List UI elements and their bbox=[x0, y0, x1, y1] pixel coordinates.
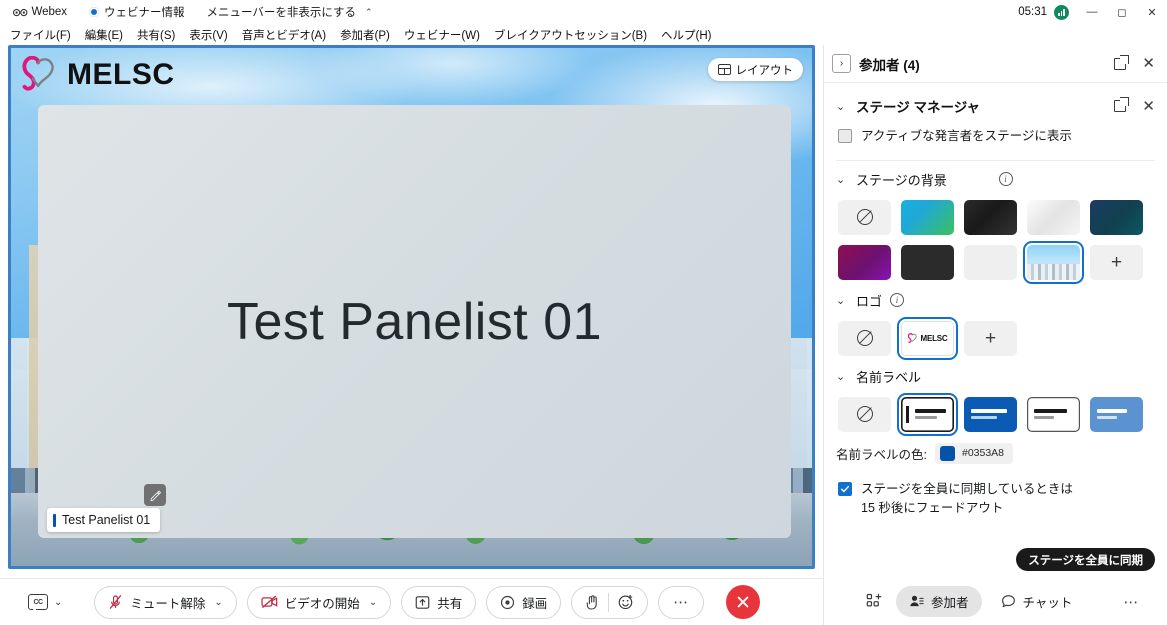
add-participants-icon bbox=[866, 593, 883, 610]
stage-background-options: + bbox=[824, 196, 1167, 282]
chat-tab-label: チャット bbox=[1023, 592, 1073, 611]
reactions-group[interactable] bbox=[571, 586, 648, 619]
logo-header[interactable]: ⌄ ロゴ i bbox=[824, 282, 1167, 317]
close-panel-icon[interactable]: ✕ bbox=[1142, 56, 1155, 71]
color-swatch bbox=[940, 446, 955, 461]
fadeout-checkbox[interactable] bbox=[838, 482, 852, 496]
active-speaker-label: アクティブな発言者をステージに表示 bbox=[861, 127, 1072, 146]
fadeout-line-2: 15 秒後にフェードアウト bbox=[861, 501, 1003, 515]
stage-background-header[interactable]: ⌄ ステージの背景 i bbox=[824, 161, 1167, 196]
popout-stage-manager-icon[interactable] bbox=[1114, 100, 1126, 112]
maximize-button[interactable]: ◻ bbox=[1107, 0, 1137, 24]
name-label-option-solid-blue[interactable] bbox=[964, 397, 1017, 432]
record-button[interactable]: 録画 bbox=[486, 586, 561, 619]
closed-caption-icon: CC bbox=[28, 594, 48, 610]
background-option-cityscape-photo[interactable] bbox=[1027, 245, 1080, 280]
no-name-label-icon bbox=[857, 406, 873, 422]
melsc-logo-icon bbox=[19, 56, 59, 94]
share-screen-icon bbox=[415, 595, 430, 610]
label-bar-secondary bbox=[915, 416, 937, 419]
minimize-button[interactable]: — bbox=[1077, 0, 1107, 24]
stage-background-title: ステージの背景 bbox=[856, 170, 991, 189]
color-hex-value: #0353A8 bbox=[962, 447, 1004, 459]
panel-more-button[interactable]: ⋯ bbox=[1115, 586, 1147, 617]
share-button-label: 共有 bbox=[437, 593, 462, 612]
plus-icon: + bbox=[985, 329, 996, 348]
end-meeting-button[interactable] bbox=[726, 585, 760, 619]
stage-background-info-icon[interactable]: i bbox=[999, 172, 1013, 186]
emoji-reaction-icon bbox=[618, 594, 634, 610]
menu-audio-video[interactable]: 音声とビデオ(A) bbox=[242, 27, 326, 43]
menu-breakout[interactable]: ブレイクアウトセッション(B) bbox=[494, 27, 647, 43]
active-speaker-row[interactable]: アクティブな発言者をステージに表示 bbox=[824, 125, 1167, 156]
record-icon bbox=[500, 595, 515, 610]
menu-share[interactable]: 共有(S) bbox=[137, 27, 175, 43]
layout-grid-icon bbox=[718, 64, 731, 75]
microphone-muted-icon bbox=[108, 594, 123, 610]
no-logo-icon bbox=[857, 330, 873, 346]
title-bar-right-cluster: 05:31 — ◻ ✕ bbox=[1018, 0, 1167, 24]
webex-brand-label: Webex bbox=[31, 6, 67, 18]
more-dots-icon: ⋯ bbox=[673, 593, 689, 611]
name-label-text: Test Panelist 01 bbox=[62, 513, 150, 527]
network-signal-icon[interactable] bbox=[1054, 5, 1069, 20]
chevron-up-icon: ⌃ bbox=[365, 7, 373, 18]
label-bar-primary bbox=[1097, 409, 1127, 413]
layout-button-label: レイアウト bbox=[736, 62, 794, 78]
logo-option-melsc[interactable]: MELSC bbox=[901, 321, 954, 356]
panel-title: 参加者 (4) bbox=[859, 54, 1114, 74]
fadeout-row[interactable]: ステージを全員に同期しているときは 15 秒後にフェードアウト bbox=[824, 468, 1167, 528]
melsc-logo-icon-small bbox=[907, 333, 918, 344]
participants-tab[interactable]: 参加者 bbox=[896, 586, 982, 617]
meeting-controls-toolbar: CC ⌄ ミュート解除 ⌄ ビデオの開始 ⌄ bbox=[0, 578, 823, 625]
menu-bar: ファイル(F) 編集(E) 共有(S) 表示(V) 音声とビデオ(A) 参加者(… bbox=[0, 24, 1167, 45]
name-label-title: 名前ラベル bbox=[856, 367, 1155, 386]
name-label-accent-bar bbox=[53, 514, 56, 527]
stage-canvas: MELSC レイアウト Test Panelist 01 Test Paneli… bbox=[8, 45, 815, 569]
label-bar-secondary bbox=[971, 416, 997, 419]
more-options-button[interactable]: ⋯ bbox=[658, 586, 704, 619]
camera-off-icon bbox=[261, 595, 278, 609]
melsc-logo-text: MELSC bbox=[67, 58, 175, 92]
webex-brand: ⊙⊙ Webex bbox=[12, 6, 67, 19]
name-label-option-outline-white[interactable] bbox=[1027, 397, 1080, 432]
edit-name-label-button[interactable] bbox=[144, 484, 166, 506]
background-option-none[interactable] bbox=[838, 200, 891, 235]
stage-manager-header-icons: ✕ bbox=[1114, 99, 1155, 114]
background-option-solid-dark[interactable] bbox=[901, 245, 954, 280]
stage-manager-chevron-down-icon[interactable]: ⌄ bbox=[836, 100, 848, 113]
logo-chevron-down-icon[interactable]: ⌄ bbox=[836, 294, 848, 307]
name-label-color-label: 名前ラベルの色: bbox=[836, 444, 927, 463]
primary-controls: ミュート解除 ⌄ ビデオの開始 ⌄ 共有 録画 bbox=[94, 585, 760, 619]
fadeout-line-1: ステージを全員に同期しているときは bbox=[861, 482, 1073, 496]
collapse-panel-button[interactable]: › bbox=[832, 54, 851, 73]
close-window-button[interactable]: ✕ bbox=[1137, 0, 1167, 24]
captions-control[interactable]: CC ⌄ bbox=[28, 594, 62, 610]
participants-icon bbox=[909, 594, 924, 609]
stage-logo: MELSC bbox=[19, 56, 175, 94]
name-label-option-none[interactable] bbox=[838, 397, 891, 432]
meeting-timer: 05:31 bbox=[1018, 6, 1047, 18]
fadeout-label: ステージを全員に同期しているときは 15 秒後にフェードアウト bbox=[861, 480, 1073, 518]
mute-button[interactable]: ミュート解除 ⌄ bbox=[94, 586, 236, 619]
menu-file[interactable]: ファイル(F) bbox=[10, 27, 71, 43]
start-video-button[interactable]: ビデオの開始 ⌄ bbox=[247, 586, 391, 619]
window-title-bar: ⊙⊙ Webex ウェビナー情報 メニューバーを非表示にする ⌃ 05:31 —… bbox=[0, 0, 1167, 24]
popout-panel-icon[interactable] bbox=[1114, 58, 1126, 70]
panel-bottom-controls: 参加者 チャット ⋯ bbox=[824, 578, 1167, 625]
share-button[interactable]: 共有 bbox=[401, 586, 476, 619]
webex-logo-icon: ⊙⊙ bbox=[12, 6, 26, 19]
logo-info-icon[interactable]: i bbox=[890, 293, 904, 307]
background-option-dark-swirl[interactable] bbox=[964, 200, 1017, 235]
close-x-icon bbox=[736, 595, 750, 609]
label-bar-primary bbox=[1034, 409, 1067, 413]
close-stage-manager-icon[interactable]: ✕ bbox=[1142, 99, 1155, 114]
menu-view[interactable]: 表示(V) bbox=[189, 27, 227, 43]
logo-option-none[interactable] bbox=[838, 321, 891, 356]
mute-chevron-down-icon[interactable]: ⌄ bbox=[214, 597, 222, 608]
menu-webinar[interactable]: ウェビナー(W) bbox=[404, 27, 480, 43]
name-label-option-white-left-bar[interactable] bbox=[901, 397, 954, 432]
label-bar-secondary bbox=[1034, 416, 1054, 419]
stage-manager-header[interactable]: ⌄ ステージ マネージャ ✕ bbox=[824, 83, 1167, 125]
webinar-info-icon bbox=[89, 7, 99, 17]
background-option-magenta-purple-gradient[interactable] bbox=[838, 245, 891, 280]
name-label-header[interactable]: ⌄ 名前ラベル bbox=[824, 358, 1167, 393]
add-logo-button[interactable]: + bbox=[964, 321, 1017, 356]
participants-panel: › 参加者 (4) ✕ ⌄ ステージ マネージャ ✕ アクティブな発言者をステー… bbox=[823, 45, 1167, 625]
captions-chevron-down-icon[interactable]: ⌄ bbox=[54, 597, 62, 608]
chat-tab[interactable]: チャット bbox=[988, 586, 1086, 617]
panel-header-icons: ✕ bbox=[1114, 56, 1155, 71]
reactions-divider bbox=[608, 593, 609, 612]
active-speaker-checkbox[interactable] bbox=[838, 129, 852, 143]
background-option-solid-light[interactable] bbox=[964, 245, 1017, 280]
participants-tab-label: 参加者 bbox=[931, 592, 969, 611]
background-option-light-swirl[interactable] bbox=[1027, 200, 1080, 235]
panel-header: › 参加者 (4) ✕ bbox=[824, 45, 1167, 83]
more-dots-icon: ⋯ bbox=[1123, 593, 1139, 611]
stage-name-label[interactable]: Test Panelist 01 bbox=[47, 508, 160, 532]
sync-stage-button[interactable]: ステージを全員に同期 bbox=[1016, 548, 1155, 571]
stage-background-chevron-down-icon[interactable]: ⌄ bbox=[836, 173, 848, 186]
label-bar-secondary bbox=[1097, 416, 1117, 419]
stage-manager-title: ステージ マネージャ bbox=[856, 96, 1106, 116]
menu-help[interactable]: ヘルプ(H) bbox=[661, 27, 711, 43]
name-label-option-light-blue[interactable] bbox=[1090, 397, 1143, 432]
name-label-color-picker[interactable]: #0353A8 bbox=[935, 443, 1013, 464]
background-option-teal-navy-gradient[interactable] bbox=[1090, 200, 1143, 235]
record-button-label: 録画 bbox=[522, 593, 547, 612]
background-option-blue-green-gradient[interactable] bbox=[901, 200, 954, 235]
logo-title: ロゴ bbox=[856, 291, 882, 310]
raise-hand-icon bbox=[585, 594, 599, 610]
webinar-info-button[interactable]: ウェビナー情報 bbox=[89, 4, 185, 20]
plus-icon: + bbox=[1111, 253, 1122, 272]
pencil-icon bbox=[150, 490, 161, 501]
stage-area: MELSC レイアウト Test Panelist 01 Test Paneli… bbox=[0, 45, 823, 578]
start-video-label: ビデオの開始 bbox=[285, 593, 360, 612]
logo-option-melsc-text: MELSC bbox=[920, 334, 947, 343]
mute-button-label: ミュート解除 bbox=[130, 593, 205, 612]
menu-edit[interactable]: 編集(E) bbox=[85, 27, 123, 43]
layout-button[interactable]: レイアウト bbox=[708, 58, 804, 81]
checkmark-icon bbox=[840, 484, 850, 494]
video-chevron-down-icon[interactable]: ⌄ bbox=[369, 597, 377, 608]
label-bar-primary bbox=[971, 409, 1007, 413]
chat-bubble-icon bbox=[1001, 594, 1016, 609]
hide-menubar-label: メニューバーを非表示にする bbox=[207, 4, 357, 20]
name-label-chevron-down-icon[interactable]: ⌄ bbox=[836, 370, 848, 383]
video-tile-name: Test Panelist 01 bbox=[227, 292, 602, 352]
participants-add-icon[interactable] bbox=[858, 586, 890, 617]
label-bar-primary bbox=[915, 409, 946, 413]
hide-menubar-button[interactable]: メニューバーを非表示にする ⌃ bbox=[207, 4, 373, 20]
menu-participants[interactable]: 参加者(P) bbox=[340, 27, 390, 43]
logo-options: MELSC + bbox=[824, 317, 1167, 358]
no-background-icon bbox=[857, 209, 873, 225]
add-background-button[interactable]: + bbox=[1090, 245, 1143, 280]
name-label-options bbox=[824, 393, 1167, 434]
name-label-color-row: 名前ラベルの色: #0353A8 bbox=[824, 434, 1167, 468]
webinar-info-label: ウェビナー情報 bbox=[104, 4, 185, 20]
video-tile[interactable]: Test Panelist 01 bbox=[38, 105, 791, 538]
